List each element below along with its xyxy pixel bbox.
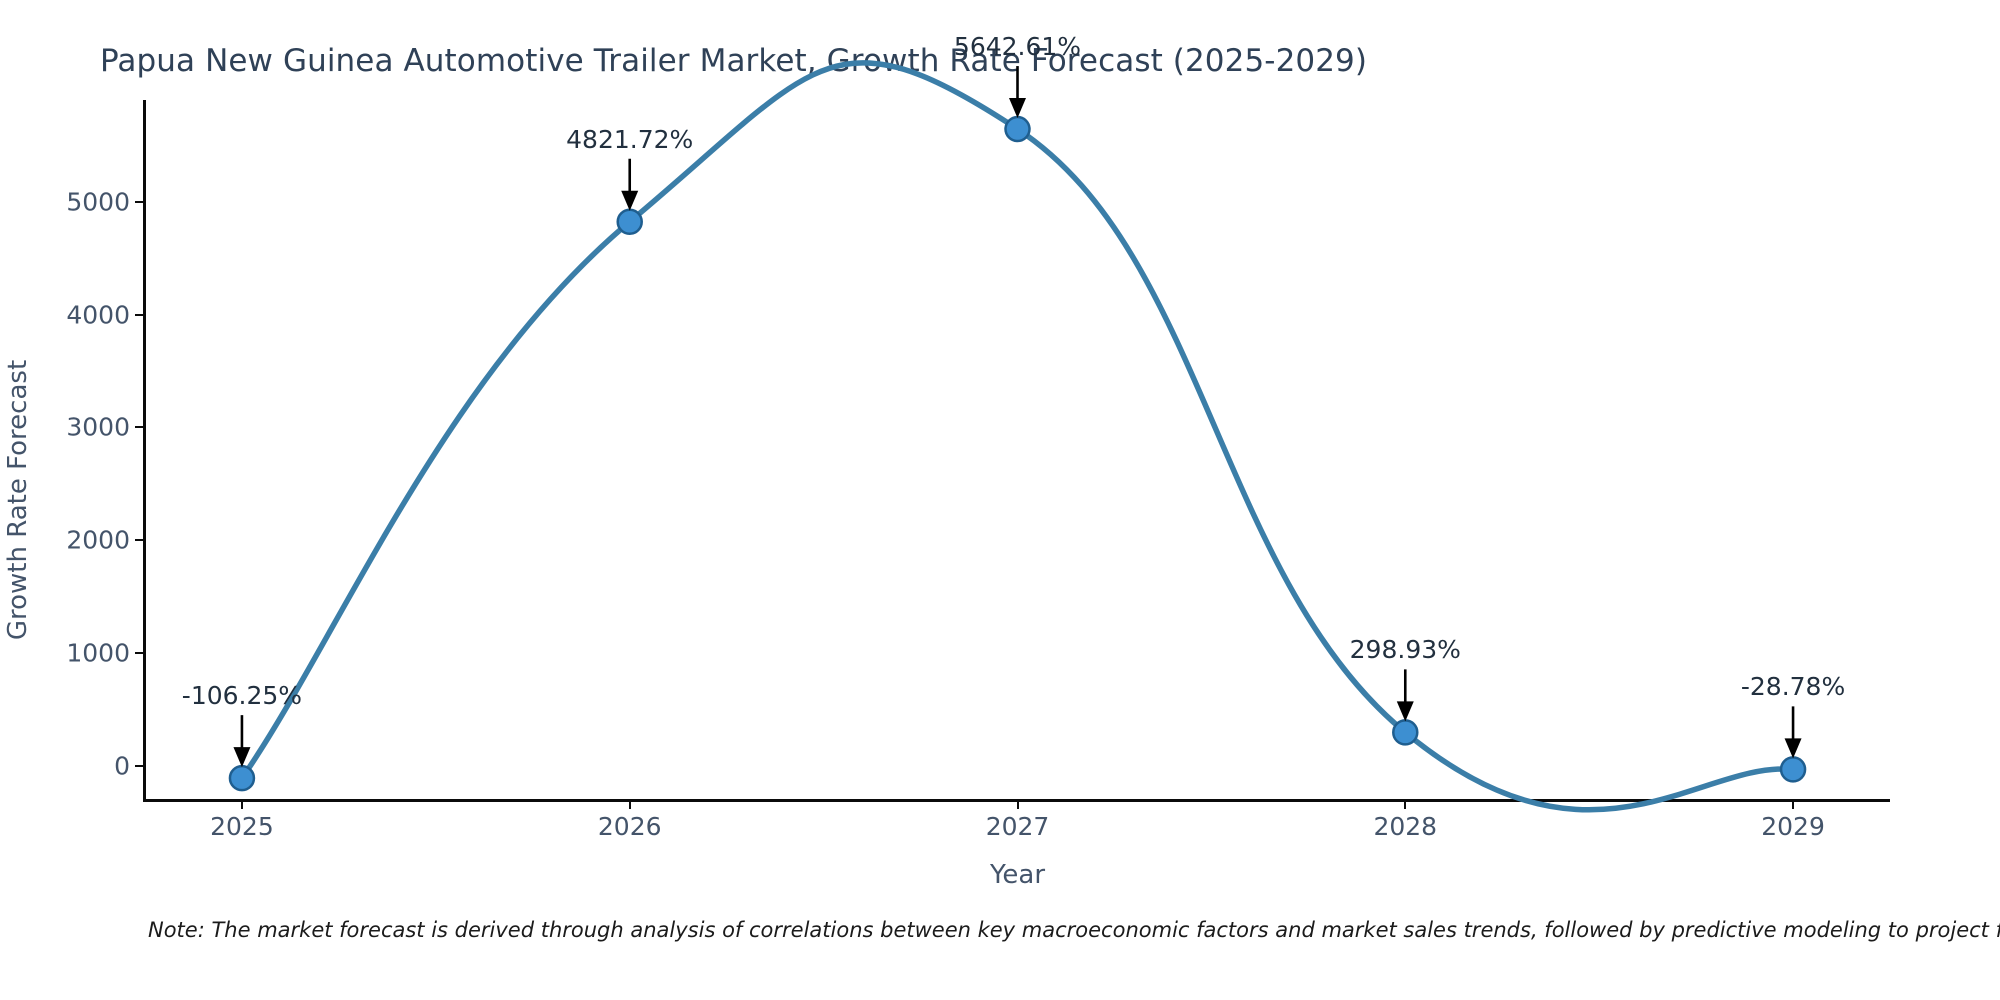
y-tick-mark-0	[135, 765, 143, 767]
data-point-label-2026: 4821.72%	[566, 125, 693, 154]
series-markers	[230, 117, 1805, 790]
x-tick-mark-2028	[1404, 801, 1406, 809]
x-axis-title: Year	[145, 860, 1890, 890]
plot-area	[145, 100, 1890, 800]
data-point-label-2029: -28.78%	[1741, 672, 1845, 701]
data-point-2026[interactable]	[618, 210, 642, 234]
y-tick-mark-3000	[135, 426, 143, 428]
annotation-arrows	[233, 66, 1801, 767]
y-axis-title-text: Growth Rate Forecast	[3, 360, 33, 640]
data-point-label-2027: 5642.61%	[954, 32, 1081, 61]
x-tick-label-2029: 2029	[1713, 812, 1873, 841]
x-tick-mark-2027	[1017, 801, 1019, 809]
annotation-arrow-head-2028	[1397, 701, 1414, 721]
x-tick-mark-2026	[629, 801, 631, 809]
chart-page: Papua New Guinea Automotive Trailer Mark…	[0, 0, 2000, 1000]
y-tick-label-1000: 1000	[10, 639, 130, 668]
data-point-label-2028: 298.93%	[1350, 635, 1461, 664]
data-point-2027[interactable]	[1006, 117, 1030, 141]
x-tick-label-2028: 2028	[1325, 812, 1485, 841]
y-tick-mark-5000	[135, 201, 143, 203]
x-tick-mark-2029	[1792, 801, 1794, 809]
y-tick-mark-2000	[135, 539, 143, 541]
annotation-arrow-head-2029	[1785, 738, 1802, 758]
chart-footnote: Note: The market forecast is derived thr…	[148, 918, 2000, 942]
x-tick-label-2026: 2026	[550, 812, 710, 841]
annotation-arrow-head-2025	[233, 747, 250, 767]
annotation-arrow-head-2026	[621, 191, 638, 211]
annotation-arrow-head-2027	[1009, 98, 1026, 118]
y-tick-label-0: 0	[10, 752, 130, 781]
data-point-2025[interactable]	[230, 766, 254, 790]
data-point-2029[interactable]	[1781, 757, 1805, 781]
y-tick-mark-1000	[135, 652, 143, 654]
x-tick-mark-2025	[241, 801, 243, 809]
x-tick-label-2027: 2027	[938, 812, 1098, 841]
data-point-label-2025: -106.25%	[182, 681, 302, 710]
series-line-growth-rate-forecast	[242, 63, 1793, 810]
y-tick-label-5000: 5000	[10, 187, 130, 216]
x-tick-label-2025: 2025	[162, 812, 322, 841]
line-chart-svg	[145, 100, 1890, 800]
y-tick-mark-4000	[135, 314, 143, 316]
chart-title: Papua New Guinea Automotive Trailer Mark…	[100, 43, 1367, 79]
y-tick-label-4000: 4000	[10, 300, 130, 329]
y-tick-label-2000: 2000	[10, 526, 130, 555]
y-axis-title: Growth Rate Forecast	[0, 0, 36, 1000]
data-point-2028[interactable]	[1393, 720, 1417, 744]
y-tick-label-3000: 3000	[10, 413, 130, 442]
